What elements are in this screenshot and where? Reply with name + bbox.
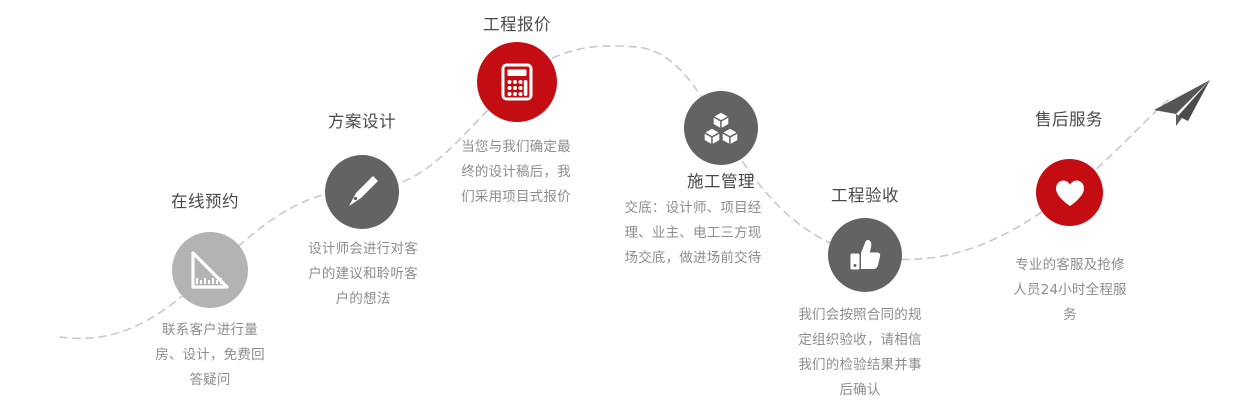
heart-icon (1036, 159, 1103, 226)
process-flow-infographic: 在线预约 联系客户进行量 房、设计，免费回 答疑问 方案设计 (0, 0, 1245, 402)
step-desc-online-booking: 联系客户进行量 房、设计，免费回 答疑问 (135, 318, 285, 393)
paper-plane-icon (1148, 76, 1222, 142)
step-title-construction-management: 施工管理 (661, 172, 781, 192)
desc-line: 人员24小时全程服 (995, 278, 1145, 303)
ruler-triangle-icon (172, 232, 248, 308)
desc-line: 务 (995, 303, 1145, 328)
fountain-pen-icon (325, 155, 399, 229)
step-title-project-acceptance: 工程验收 (805, 186, 925, 206)
stacked-blocks-icon (684, 91, 758, 165)
desc-line: 答疑问 (135, 368, 285, 393)
step-title-online-booking: 在线预约 (145, 192, 265, 212)
step-title-project-quotation: 工程报价 (457, 15, 577, 35)
step-title-after-sales-service: 售后服务 (1009, 110, 1129, 130)
desc-line: 当您与我们确定最 (440, 135, 592, 160)
step-desc-project-quotation: 当您与我们确定最 终的设计稿后，我 们采用项目式报价 (440, 135, 592, 210)
desc-line: 户的想法 (288, 287, 438, 312)
desc-line: 们采用项目式报价 (440, 185, 592, 210)
step-desc-construction-management: 交底：设计师、项目经 理、业主、电工三方现 场交底，做进场前交待 (610, 196, 776, 271)
desc-line: 专业的客服及抢修 (995, 253, 1145, 278)
desc-line: 定组织验收，请相信 (775, 328, 945, 353)
step-desc-project-acceptance: 我们会按照合同的规 定组织验收，请相信 我们的检验结果并事 后确认 (775, 303, 945, 402)
desc-line: 房、设计，免费回 (135, 343, 285, 368)
desc-line: 设计师会进行对客 (288, 237, 438, 262)
desc-line: 交底：设计师、项目经 (610, 196, 776, 221)
desc-line: 户的建议和聆听客 (288, 262, 438, 287)
step-desc-scheme-design: 设计师会进行对客 户的建议和聆听客 户的想法 (288, 237, 438, 312)
step-title-scheme-design: 方案设计 (302, 112, 422, 132)
desc-line: 我们会按照合同的规 (775, 303, 945, 328)
calculator-icon (477, 42, 557, 122)
desc-line: 后确认 (775, 378, 945, 402)
desc-line: 理、业主、电工三方现 (610, 221, 776, 246)
desc-line: 场交底，做进场前交待 (610, 246, 776, 271)
thumbs-up-icon (828, 218, 902, 292)
desc-line: 我们的检验结果并事 (775, 353, 945, 378)
desc-line: 终的设计稿后，我 (440, 160, 592, 185)
step-desc-after-sales-service: 专业的客服及抢修 人员24小时全程服 务 (995, 253, 1145, 328)
desc-line: 联系客户进行量 (135, 318, 285, 343)
